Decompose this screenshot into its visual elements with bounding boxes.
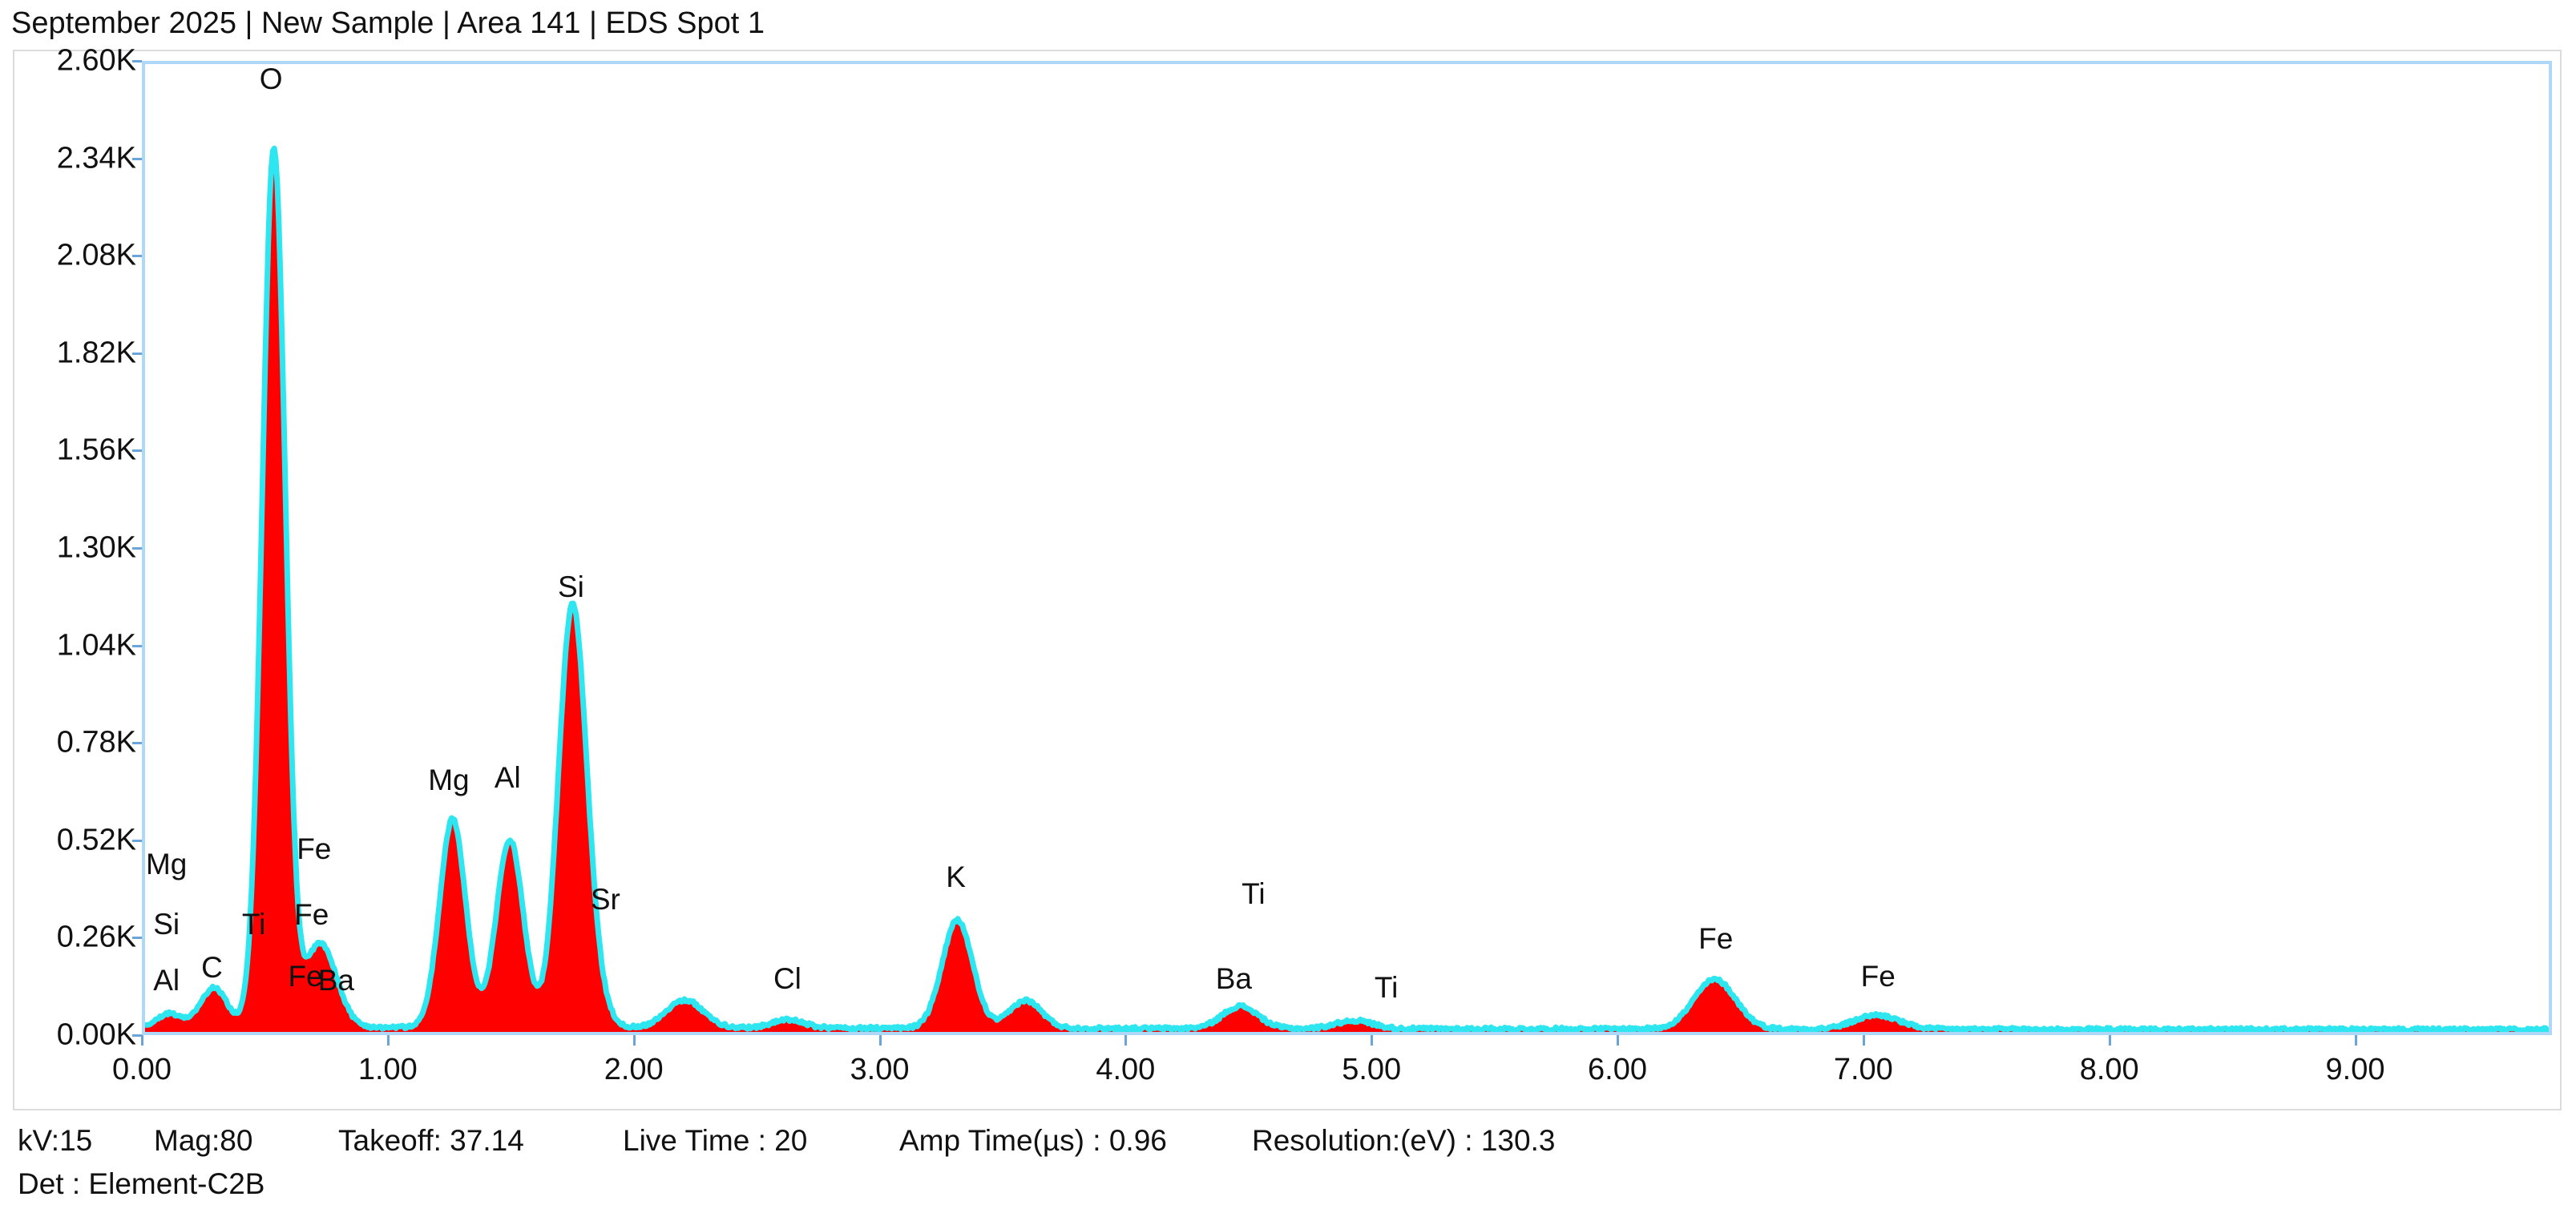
peak-label: Fe	[1698, 924, 1733, 953]
peak-label: Ti	[1375, 973, 1398, 1002]
param-resolution: Resolution:(eV) : 130.3	[1252, 1120, 1555, 1162]
param-detector: Det : Element-C2B	[18, 1163, 264, 1205]
peak-label: Sr	[591, 884, 620, 914]
x-axis-tick-label: 6.00	[1588, 1053, 1647, 1087]
x-axis-tick-label: 9.00	[2326, 1053, 2385, 1087]
x-axis-tick-mark	[633, 1035, 636, 1046]
x-axis-tick-label: 8.00	[2080, 1053, 2139, 1087]
param-takeoff: Takeoff: 37.14	[338, 1120, 524, 1162]
peak-label: Fe	[297, 834, 331, 864]
x-axis-tick-label: 2.00	[604, 1053, 664, 1087]
peak-label: Ti	[1242, 879, 1265, 909]
param-amp-time: Amp Time(µs) : 0.96	[899, 1120, 1167, 1162]
peak-label: Cl	[773, 964, 801, 993]
peak-label: Ti	[242, 909, 265, 939]
x-axis-tick-mark	[387, 1035, 390, 1046]
param-kv: kV:15	[18, 1120, 92, 1162]
peak-label: Fe	[294, 900, 329, 929]
peak-label: Si	[558, 572, 584, 602]
x-axis-tick-mark	[1124, 1035, 1127, 1046]
param-live-time: Live Time : 20	[623, 1120, 807, 1162]
axis-overlay: 0.001.002.003.004.005.006.007.008.009.00…	[0, 0, 2576, 1225]
x-axis-tick-mark	[1371, 1035, 1373, 1046]
x-axis-tick-mark	[879, 1035, 882, 1046]
peak-label: Si	[153, 909, 180, 939]
peak-label: Mg	[428, 765, 469, 795]
param-mag: Mag:80	[154, 1120, 252, 1162]
x-axis-tick-mark	[2355, 1035, 2357, 1046]
x-axis-tick-label: 4.00	[1096, 1053, 1155, 1087]
peak-label: C	[201, 953, 223, 982]
peak-label: Ba	[318, 965, 354, 995]
peak-label: O	[260, 64, 283, 94]
peak-label: Ba	[1216, 964, 1252, 993]
x-axis-tick-label: 1.00	[358, 1053, 418, 1087]
peak-label: Al	[495, 763, 521, 792]
eds-spectrum-viewer: September 2025 | New Sample | Area 141 |…	[0, 0, 2576, 1225]
x-axis-tick-label: 3.00	[850, 1053, 910, 1087]
x-axis-tick-mark	[141, 1035, 143, 1046]
x-axis-tick-mark	[1863, 1035, 1865, 1046]
peak-label: K	[946, 862, 966, 892]
x-axis-tick-label: 5.00	[1342, 1053, 1401, 1087]
x-axis-tick-label: 7.00	[1834, 1053, 1893, 1087]
x-axis-tick-mark	[1617, 1035, 1619, 1046]
x-axis-tick-mark	[2109, 1035, 2111, 1046]
peak-label: Mg	[146, 849, 187, 879]
peak-label: Fe	[1861, 961, 1896, 991]
peak-label: Al	[153, 965, 180, 995]
x-axis-tick-label: 0.00	[112, 1053, 172, 1087]
